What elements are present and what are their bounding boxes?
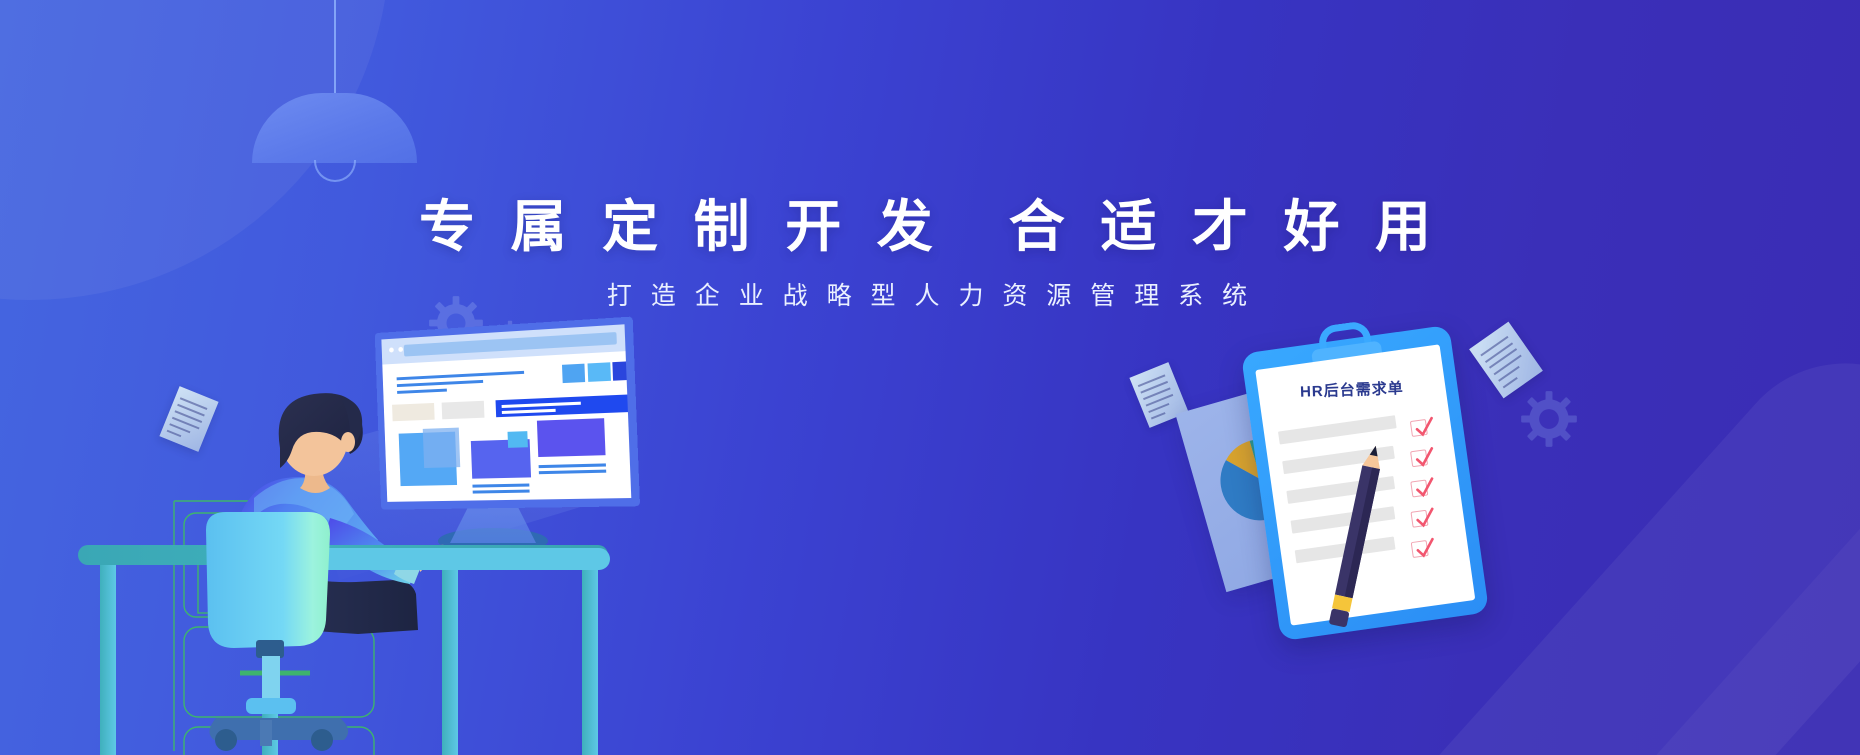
checklist-row: [1278, 415, 1397, 444]
hero-banner: HR后台需求单: [0, 0, 1860, 755]
hr-requirements-clipboard: HR后台需求单: [1241, 325, 1489, 641]
checklist-row: [1291, 506, 1396, 533]
checkbox-checked[interactable]: [1410, 419, 1428, 437]
page-title: 专 属 定 制 开 发 合 适 才 好 用: [0, 196, 1860, 258]
lamp-cord: [334, 0, 336, 95]
screen-swatch-2: [588, 362, 611, 382]
browser-address-bar: [404, 332, 617, 357]
hr-documents-illustration: HR后台需求单: [1190, 330, 1520, 630]
lamp-bulb: [314, 160, 356, 182]
pencil-icon: [1326, 443, 1386, 630]
screen-tile-5: [537, 418, 606, 457]
page-subtitle: 打 造 企 业 战 略 型 人 力 资 源 管 理 系 统: [0, 276, 1860, 312]
clipboard-title: HR后台需求单: [1259, 376, 1446, 403]
bottom-right-diagonal-bar-2: [1538, 366, 1860, 755]
screen-row-tile-3: [496, 394, 632, 417]
screen-tile-4: [508, 431, 528, 448]
checkbox-checked[interactable]: [1410, 510, 1428, 528]
clipboard-paper: HR后台需求单: [1255, 344, 1475, 625]
desk-leg-1: [100, 562, 116, 755]
office-chair: [200, 512, 380, 755]
desk-leg-3: [442, 562, 458, 755]
screen-swatch-1: [562, 364, 585, 383]
hero-copy: 专 属 定 制 开 发 合 适 才 好 用 打 造 企 业 战 略 型 人 力 …: [0, 196, 1860, 312]
gear-right-icon: [1520, 390, 1578, 448]
checkbox-checked[interactable]: [1411, 540, 1429, 558]
desk-leg-4: [582, 562, 598, 755]
lamp-shade: [252, 93, 417, 163]
checkbox-checked[interactable]: [1410, 449, 1428, 467]
checkbox-checked[interactable]: [1410, 479, 1428, 497]
pendant-lamp-icon: [252, 0, 417, 185]
